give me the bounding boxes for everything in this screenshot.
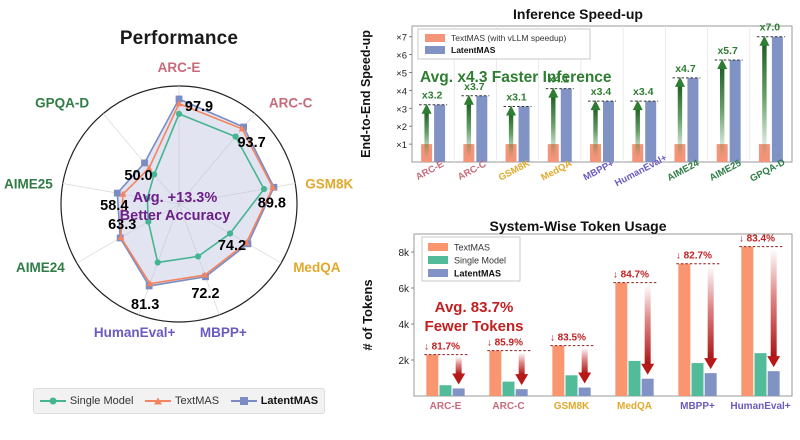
speedup-bar-latentmas	[645, 101, 656, 162]
figure-root: Performance ARC-EARC-CGSM8KMedQAMBPP+Hum…	[0, 0, 800, 440]
speedup-bar-label: x3.2	[422, 90, 443, 102]
speedup-arrow-shaft	[551, 96, 555, 158]
radar-axis-label-aime24: AIME24	[16, 260, 65, 275]
speedup-arrow-shaft	[678, 85, 682, 158]
radar-value-label: 97.9	[185, 99, 213, 115]
radar-chart-svg: ARC-EARC-CGSM8KMedQAMBPP+HumanEval+AIME2…	[0, 44, 358, 389]
token-arrow-shaft	[582, 348, 588, 374]
speedup-bar-label: x7.0	[760, 22, 781, 34]
speedup-bar-latentmas	[603, 101, 614, 162]
speedup-ytick: ×2	[396, 122, 407, 133]
radar-legend: Single Model TextMAS LatentMAS	[33, 388, 325, 414]
token-bar-latentmas	[705, 373, 717, 396]
radar-axis-label-aime25: AIME25	[4, 177, 53, 192]
speedup-arrow-shaft	[424, 112, 428, 158]
speedup-chart-panel: Inference Speed-up ×1×2×3×4×5×6×7End-to-…	[356, 0, 800, 208]
speedup-ytick: ×6	[396, 51, 407, 62]
legend-item-single-model[interactable]: Single Model	[40, 395, 134, 407]
legend-swatch-textmas	[145, 400, 171, 402]
token-bar-textmas	[489, 351, 501, 396]
token-legend-swatch-latentmas	[428, 269, 448, 277]
speedup-bar-latentmas	[519, 107, 530, 162]
token-legend-swatch-textmas	[428, 243, 448, 251]
radar-axis-label-arc-c: ARC-C	[269, 96, 313, 111]
token-bar-latentmas	[579, 388, 591, 396]
speedup-bar-latentmas	[561, 89, 572, 162]
token-bar-textmas	[615, 283, 627, 396]
radar-axis-label-mbpp-: MBPP+	[200, 325, 247, 340]
speedup-legend-label-textmas: TextMAS (with vLLM speedup)	[451, 33, 566, 43]
radar-axis-label-medqa: MedQA	[293, 260, 341, 275]
legend-label-textmas: TextMAS	[175, 395, 219, 407]
token-legend-label-latentmas: LatentMAS	[454, 269, 501, 279]
token-arrow-shaft	[645, 285, 651, 365]
token-bar-single-model	[755, 353, 767, 396]
token-xtick-medqa: MedQA	[617, 401, 652, 412]
legend-item-latentmas[interactable]: LatentMAS	[231, 395, 318, 407]
token-chart-svg: 2k4k6k8k# of Tokens↓ 81.7%ARC-E↓ 85.9%AR…	[356, 208, 800, 440]
token-bar-single-model	[629, 361, 641, 396]
token-bar-textmas	[741, 247, 753, 396]
token-ytick: 4k	[398, 320, 410, 331]
legend-label-latentmas: LatentMAS	[261, 395, 318, 407]
token-arrow-shaft	[519, 353, 525, 376]
legend-label-single-model: Single Model	[70, 395, 134, 407]
token-bar-textmas	[426, 355, 438, 396]
radar-value-label: 93.7	[237, 135, 265, 151]
token-reduction-label: ↓ 82.7%	[676, 251, 712, 262]
radar-value-label: 72.2	[191, 286, 219, 302]
token-bar-single-model	[503, 382, 515, 396]
speedup-bar-latentmas	[476, 96, 487, 162]
token-chart-panel: System-Wise Token Usage 2k4k6k8k# of Tok…	[356, 208, 800, 440]
token-reduction-label: ↓ 85.9%	[487, 338, 523, 349]
radar-value-label: 50.0	[124, 168, 152, 184]
token-reduction-label: ↓ 83.4%	[739, 234, 775, 245]
speedup-annotation: Avg. x4.3 Faster Inference	[420, 69, 612, 86]
radar-point	[176, 111, 182, 117]
radar-chart-panel: Performance ARC-EARC-CGSM8KMedQAMBPP+Hum…	[0, 0, 358, 440]
token-ytick: 2k	[398, 356, 410, 367]
speedup-bar-label: x3.4	[633, 86, 654, 98]
token-legend-swatch-single-model	[428, 256, 448, 264]
radar-point	[261, 186, 267, 192]
radar-value-label: 81.3	[131, 297, 159, 313]
speedup-arrow-shaft	[720, 67, 724, 158]
token-bar-latentmas	[768, 371, 780, 396]
speedup-arrow-shaft	[636, 108, 640, 158]
speedup-bar-label: x3.4	[591, 86, 612, 98]
token-arrow-shaft	[771, 249, 777, 358]
token-xtick-arc-c: ARC-C	[492, 401, 524, 412]
speedup-bar-latentmas	[434, 105, 445, 162]
speedup-chart-title: Inference Speed-up	[356, 6, 800, 22]
token-xtick-gsm8k: GSM8K	[554, 401, 590, 412]
radar-axis-label-humaneval-: HumanEval+	[94, 325, 176, 340]
token-bar-textmas	[678, 264, 690, 396]
token-reduction-label: ↓ 83.5%	[550, 333, 586, 344]
speedup-arrow-shaft	[593, 108, 597, 158]
radar-point	[141, 160, 148, 167]
radar-point	[155, 259, 161, 265]
radar-value-label: 89.8	[258, 195, 286, 211]
speedup-legend-swatch-textmas	[425, 34, 445, 42]
radar-point	[114, 190, 121, 197]
speedup-arrow-shaft	[762, 44, 766, 158]
token-reduction-label: ↓ 81.7%	[424, 342, 460, 353]
speedup-arrow-shaft	[467, 103, 471, 158]
radar-axis-label-gpqa-d: GPQA-D	[35, 96, 89, 111]
speedup-legend-swatch-latentmas	[425, 46, 445, 54]
radar-axis-label-gsm8k: GSM8K	[305, 177, 353, 192]
legend-item-textmas[interactable]: TextMAS	[145, 395, 219, 407]
token-xtick-mbpp-: MBPP+	[680, 401, 715, 412]
token-ytick: 6k	[398, 284, 410, 295]
speedup-ytick: ×4	[396, 86, 407, 97]
token-legend-label-single-model: Single Model	[454, 256, 506, 266]
speedup-chart-svg: ×1×2×3×4×5×6×7End-to-End Speed-upx3.2ARC…	[356, 0, 800, 208]
speedup-ytick: ×3	[396, 104, 407, 115]
token-arrow-shaft	[456, 357, 462, 375]
radar-annotation-line1: Avg. +13.3%	[133, 190, 218, 206]
token-xtick-arc-e: ARC-E	[430, 401, 462, 412]
token-bar-textmas	[552, 346, 564, 396]
radar-point	[227, 230, 233, 236]
speedup-ytick: ×5	[396, 69, 407, 80]
speedup-bar-label: x5.7	[717, 45, 738, 57]
token-annotation-line2: Fewer Tokens	[425, 318, 524, 335]
token-y-axis-label: # of Tokens	[360, 279, 375, 350]
speedup-bar-latentmas	[687, 78, 698, 162]
token-chart-title: System-Wise Token Usage	[356, 218, 800, 234]
radar-annotation-line2: Better Accuracy	[120, 208, 231, 224]
token-reduction-label: ↓ 84.7%	[613, 270, 649, 281]
speedup-bar-latentmas	[730, 60, 741, 162]
radar-axis-label-arc-e: ARC-E	[158, 60, 201, 75]
token-annotation-line1: Avg. 83.7%	[435, 299, 514, 316]
speedup-arrow-shaft	[509, 114, 513, 158]
legend-swatch-latentmas	[231, 400, 257, 402]
token-xtick-humaneval-: HumanEval+	[730, 401, 790, 412]
speedup-y-axis-label: End-to-End Speed-up	[359, 30, 373, 158]
token-ytick: 8k	[398, 248, 410, 259]
radar-point	[195, 253, 201, 259]
token-bar-latentmas	[642, 379, 654, 396]
token-bar-latentmas	[453, 388, 465, 396]
token-legend-label-textmas: TextMAS	[454, 243, 490, 253]
token-arrow-shaft	[708, 266, 714, 359]
token-bar-single-model	[692, 363, 704, 396]
token-bar-latentmas	[516, 389, 528, 396]
speedup-bar-latentmas	[772, 37, 783, 162]
legend-swatch-single-model	[40, 400, 66, 402]
speedup-ytick: ×7	[396, 33, 407, 44]
token-bar-single-model	[566, 375, 578, 396]
speedup-bar-label: x3.1	[506, 92, 527, 104]
speedup-bar-label: x4.7	[675, 63, 696, 75]
speedup-ytick: ×1	[396, 140, 407, 151]
speedup-legend-label-latentmas: LatentMAS	[451, 45, 496, 55]
token-bar-single-model	[440, 385, 452, 396]
radar-value-label: 74.2	[218, 238, 246, 254]
